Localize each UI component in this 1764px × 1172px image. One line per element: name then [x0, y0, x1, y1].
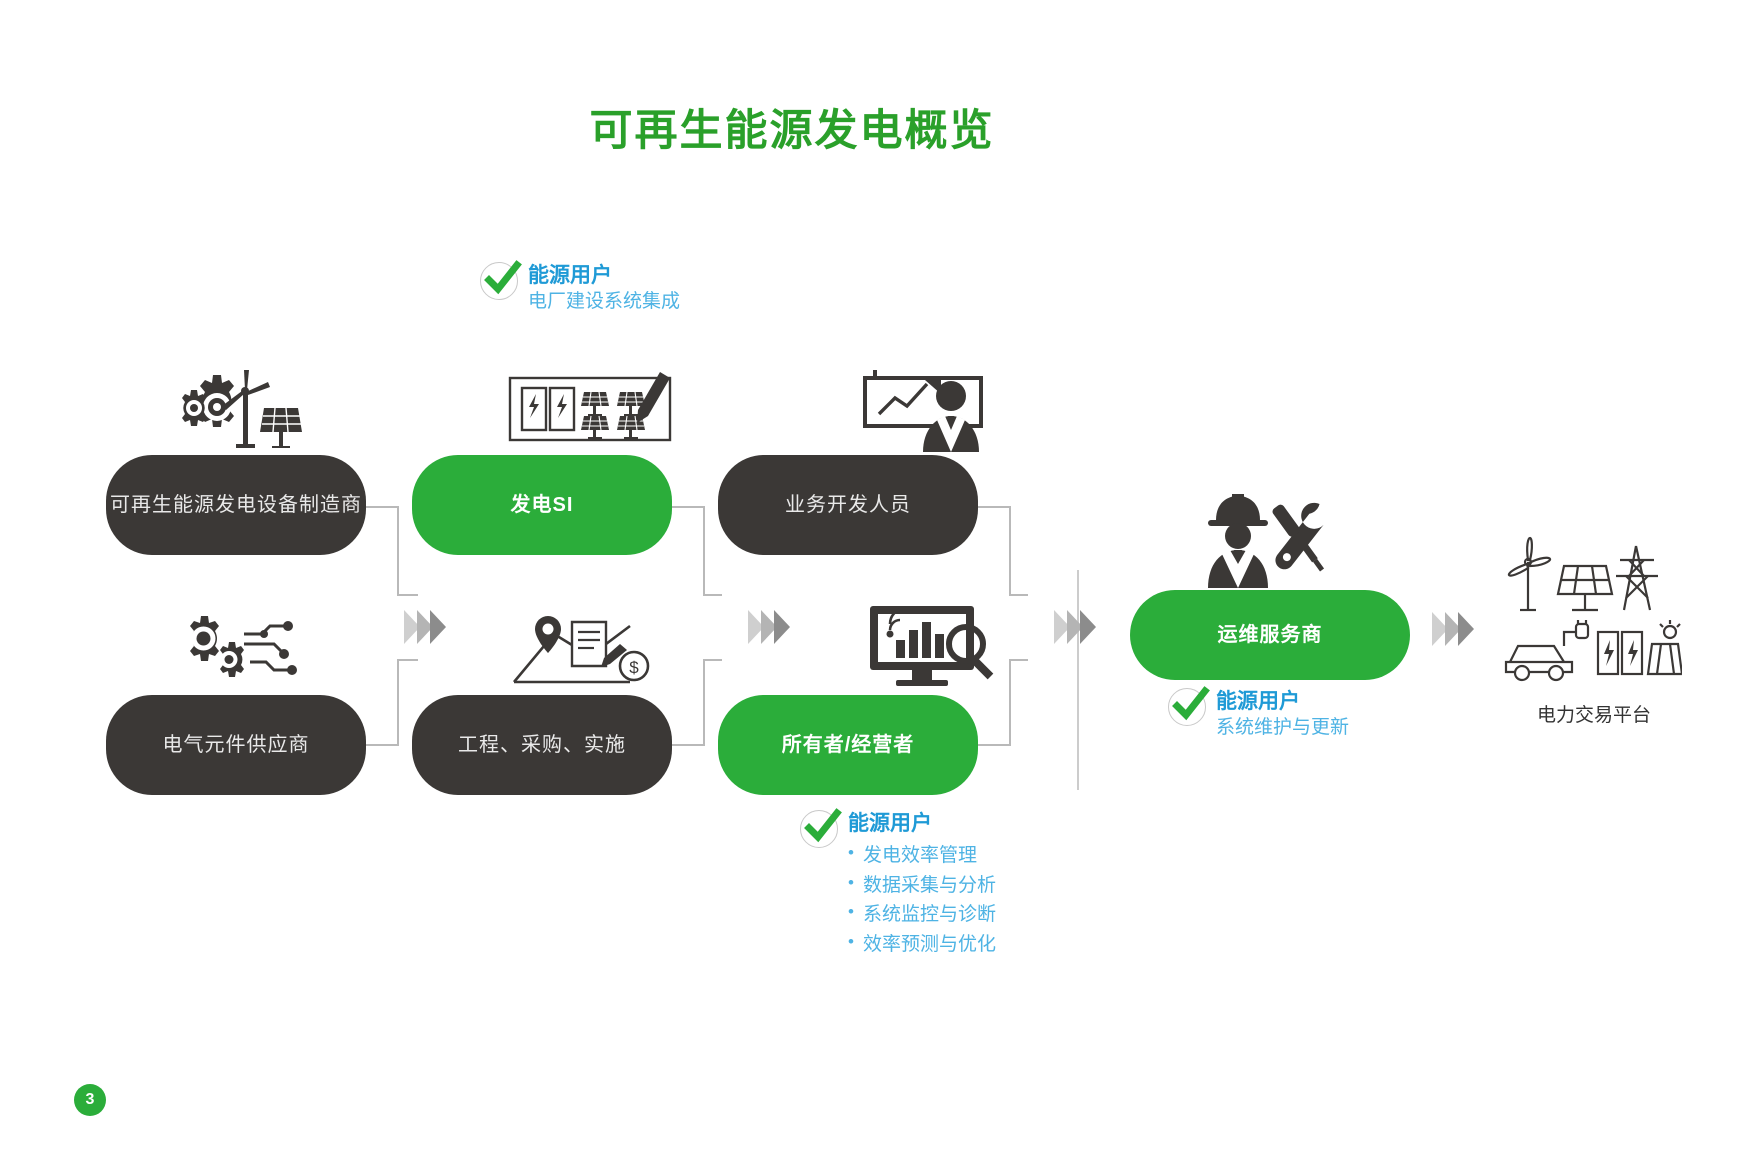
node-power-si-label: 发电SI [511, 493, 574, 517]
node-business-dev[interactable]: 业务开发人员 [718, 455, 978, 555]
node-trading-platform-label: 电力交易平台 [1484, 700, 1704, 727]
page-number-badge: 3 [74, 1084, 106, 1116]
node-om-provider[interactable]: 运维服务商 [1130, 590, 1410, 680]
check-circle-icon [800, 810, 838, 848]
list-item: 数据采集与分析 [848, 871, 996, 900]
annotation-text: 能源用户 系统维护与更新 [1216, 688, 1349, 741]
technician-wrench-screwdriver-icon [1200, 492, 1336, 588]
annotation-system-maintenance: 能源用户 系统维护与更新 [1168, 688, 1349, 741]
connector-lines [0, 0, 1764, 1172]
chevron-arrow-icon-2 [748, 610, 787, 644]
annotation-text: 能源用户 发电效率管理 数据采集与分析 系统监控与诊断 效率预测与优化 [848, 810, 996, 959]
chevron-arrow-icon-4 [1432, 612, 1471, 646]
gear-wind-turbine-solar-icon [160, 368, 306, 448]
annotation-subtitle: 电厂建设系统集成 [528, 289, 680, 315]
gear-circuit-board-icon [178, 610, 306, 682]
annotation-text: 能源用户 电厂建设系统集成 [528, 262, 680, 315]
node-epc[interactable]: 工程、采购、实施 [412, 695, 672, 795]
chevron-arrow-icon-1 [404, 610, 443, 644]
annotation-bullet-list: 发电效率管理 数据采集与分析 系统监控与诊断 效率预测与优化 [848, 841, 996, 959]
node-om-provider-label: 运维服务商 [1218, 623, 1323, 647]
slide-canvas: 可再生能源发电概览 [0, 0, 1764, 1172]
annotation-subtitle: 系统维护与更新 [1216, 715, 1349, 741]
node-component-supplier-label: 电气元件供应商 [163, 733, 310, 757]
presentation-chart-businessman-icon [855, 368, 1005, 452]
node-business-dev-label: 业务开发人员 [785, 493, 911, 517]
check-circle-icon [1168, 688, 1206, 726]
node-owner-operator-label: 所有者/经营者 [782, 733, 915, 757]
node-component-supplier[interactable]: 电气元件供应商 [106, 695, 366, 795]
annotation-title: 能源用户 [848, 812, 932, 835]
list-item: 系统监控与诊断 [848, 900, 996, 929]
node-owner-operator[interactable]: 所有者/经营者 [718, 695, 978, 795]
annotation-plant-construction: 能源用户 电厂建设系统集成 [480, 262, 680, 315]
list-item: 发电效率管理 [848, 841, 996, 870]
check-circle-icon [480, 262, 518, 300]
map-location-contract-dollar-icon: $ [508, 608, 658, 692]
node-epc-label: 工程、采购、实施 [458, 733, 626, 757]
svg-text:$: $ [629, 658, 639, 677]
page-number-text: 3 [86, 1091, 95, 1109]
equipment-cabinet-solar-pencil-icon [508, 372, 678, 450]
monitor-bar-chart-magnifier-icon [868, 600, 1000, 690]
annotation-title: 能源用户 [1216, 690, 1300, 713]
annotation-title: 能源用户 [528, 264, 612, 287]
annotation-owner-capabilities: 能源用户 发电效率管理 数据采集与分析 系统监控与诊断 效率预测与优化 [800, 810, 996, 959]
node-power-si[interactable]: 发电SI [412, 455, 672, 555]
list-item: 效率预测与优化 [848, 930, 996, 959]
wind-solar-pylon-ev-battery-icon [1502, 536, 1682, 686]
node-manufacturer-label: 可再生能源发电设备制造商 [110, 493, 362, 517]
node-manufacturer[interactable]: 可再生能源发电设备制造商 [106, 455, 366, 555]
chevron-arrow-icon-3 [1054, 610, 1093, 644]
